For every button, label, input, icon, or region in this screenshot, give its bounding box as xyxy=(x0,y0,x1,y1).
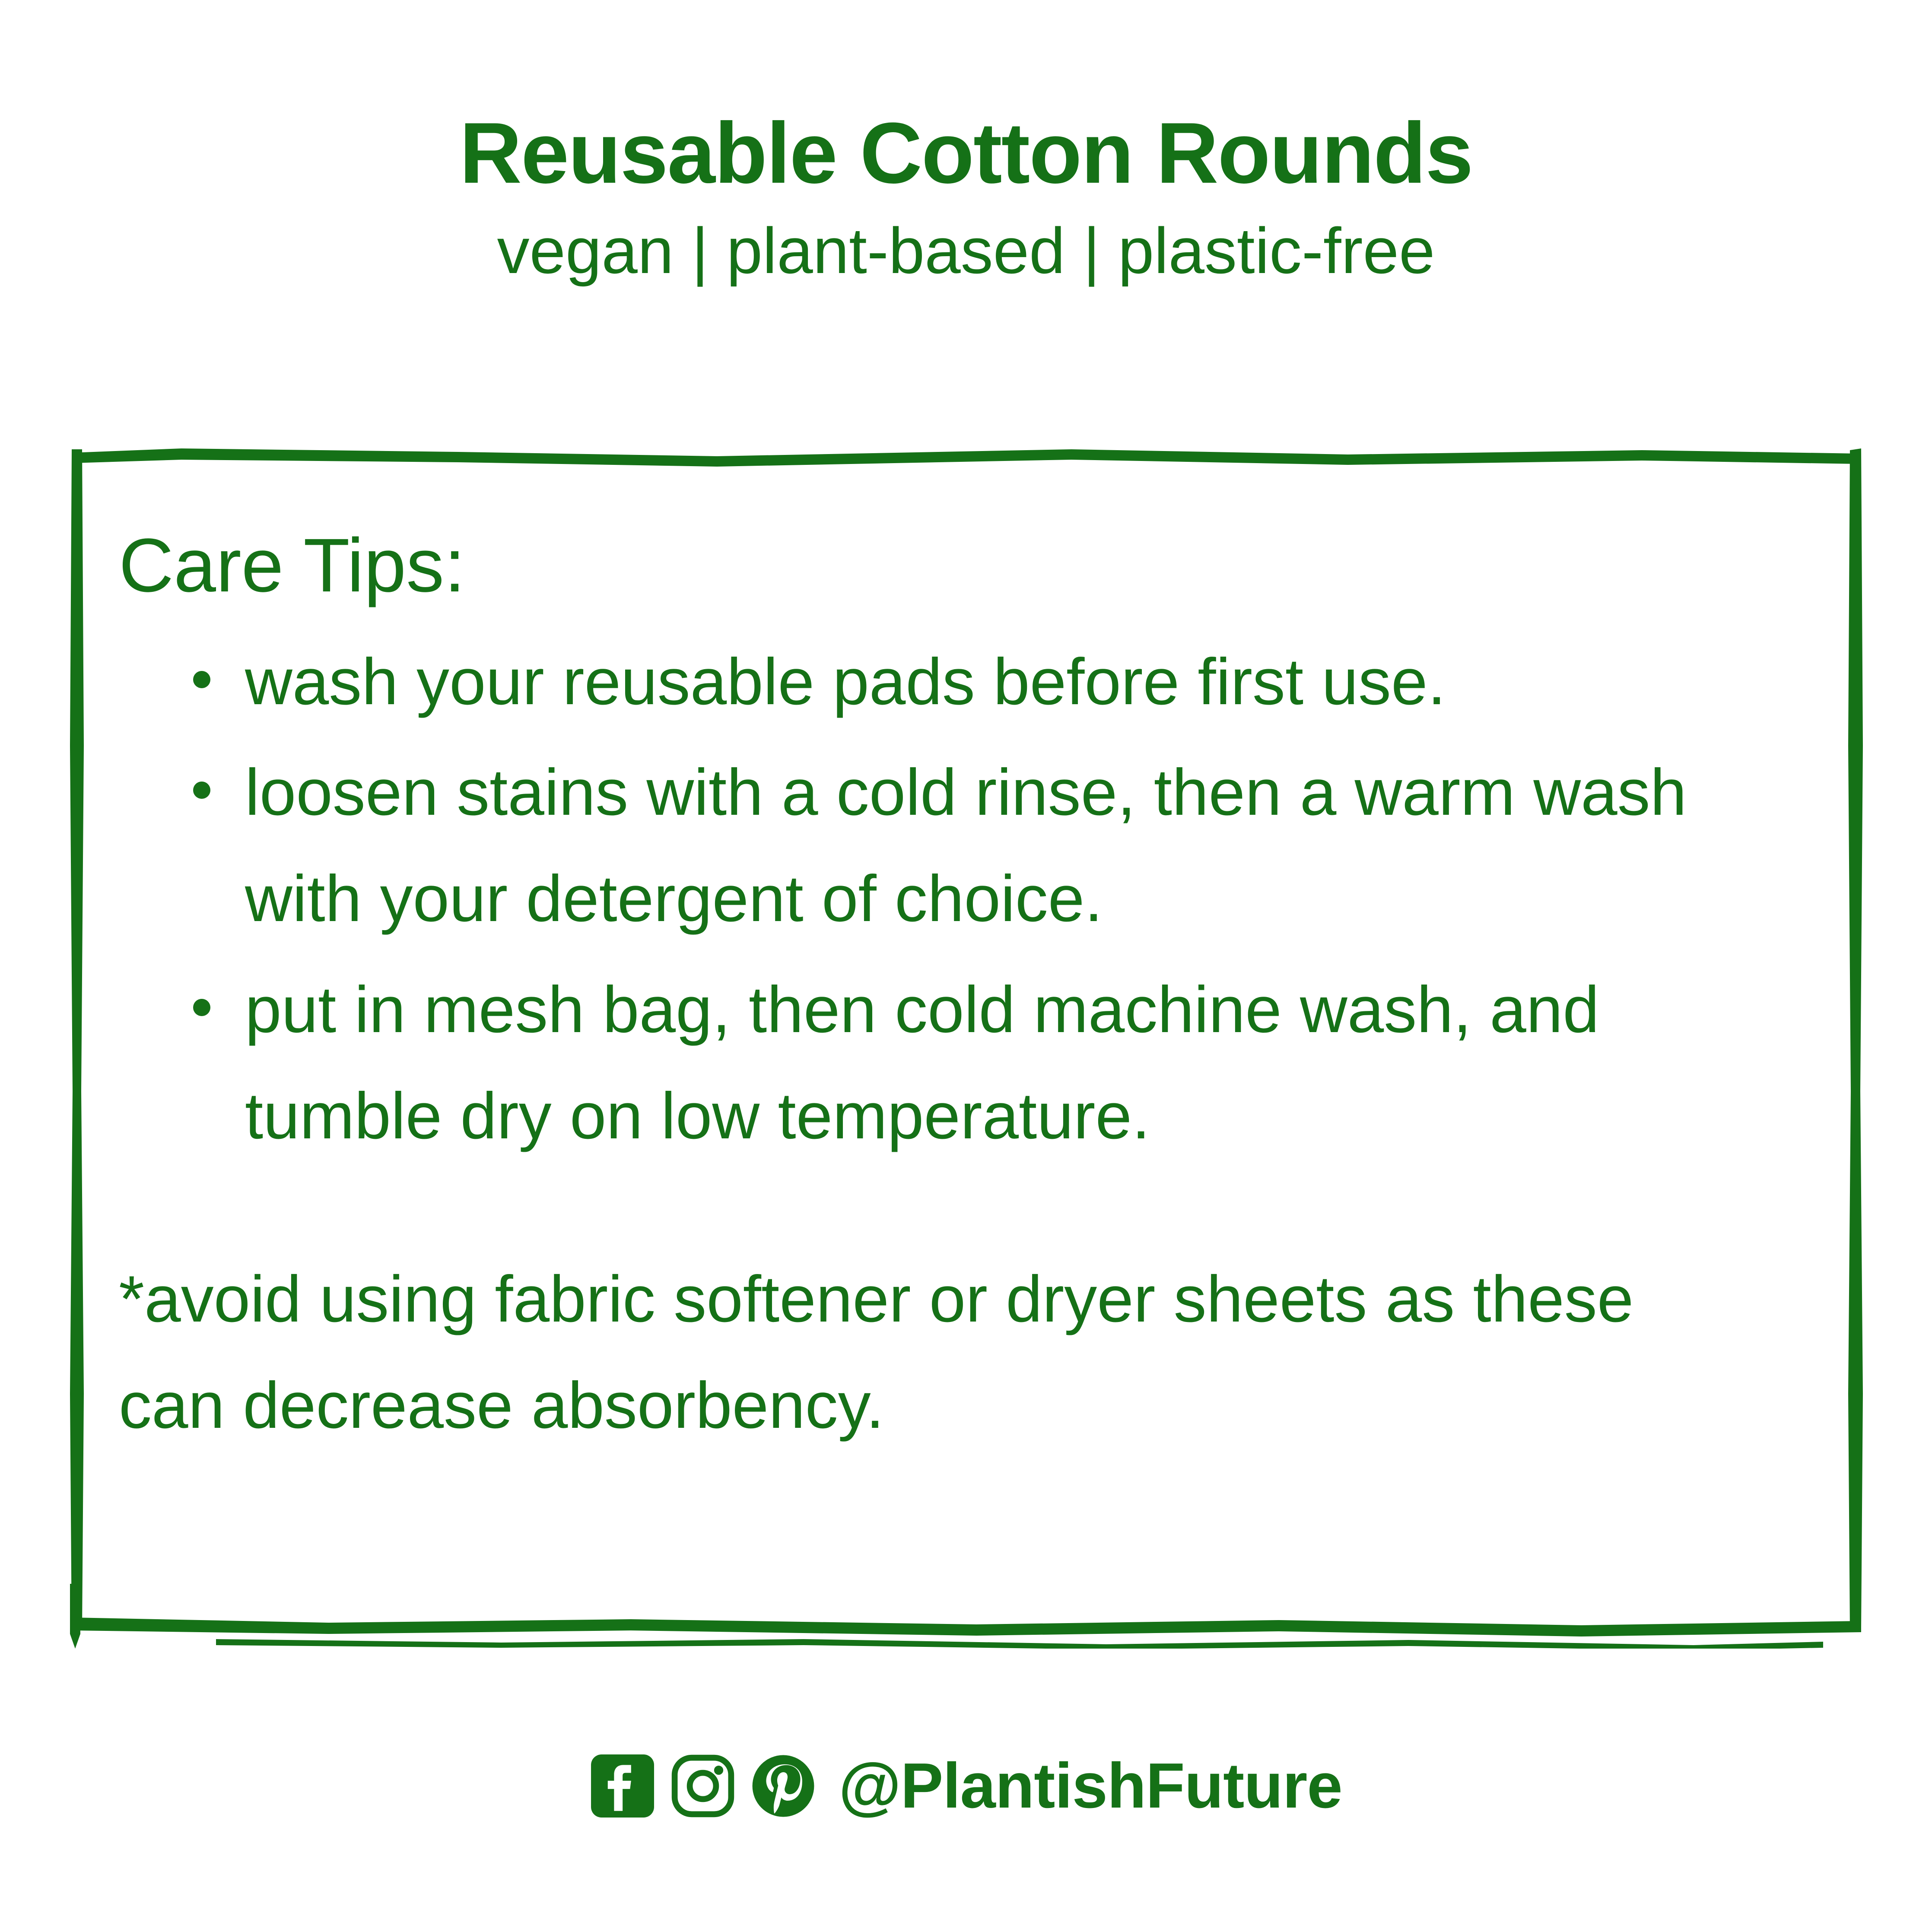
page-title: Reusable Cotton Rounds xyxy=(0,108,1932,199)
list-item: loosen stains with a cold rinse, then a … xyxy=(119,739,1783,952)
care-footnote: *avoid using fabric softener or dryer sh… xyxy=(119,1246,1726,1459)
care-tips-list: wash your reusable pads before first use… xyxy=(119,629,1815,1169)
list-item-text: wash your reusable pads before first use… xyxy=(245,645,1446,718)
social-footer: @PlantishFuture xyxy=(0,1753,1932,1819)
bullet-dot xyxy=(193,999,210,1016)
social-icon-group xyxy=(590,1753,816,1819)
facebook-icon[interactable] xyxy=(590,1753,655,1819)
card-body: Care Tips: wash your reusable pads befor… xyxy=(119,527,1815,1623)
list-item: put in mesh bag, then cold machine wash,… xyxy=(119,956,1783,1169)
bullet-dot xyxy=(193,671,210,688)
list-item: wash your reusable pads before first use… xyxy=(119,629,1783,735)
page-subtitle: vegan | plant-based | plastic-free xyxy=(0,215,1932,286)
list-item-text: loosen stains with a cold rinse, then a … xyxy=(245,756,1687,935)
care-tips-card: Care Tips: wash your reusable pads befor… xyxy=(69,443,1863,1649)
pinterest-icon[interactable] xyxy=(750,1753,816,1819)
list-item-text: put in mesh bag, then cold machine wash,… xyxy=(245,973,1599,1153)
social-handle: @PlantishFuture xyxy=(839,1754,1342,1818)
bullet-dot xyxy=(193,782,210,799)
instagram-icon[interactable] xyxy=(670,1753,736,1819)
care-tips-heading: Care Tips: xyxy=(119,527,1815,604)
header: Reusable Cotton Rounds vegan | plant-bas… xyxy=(0,0,1932,286)
